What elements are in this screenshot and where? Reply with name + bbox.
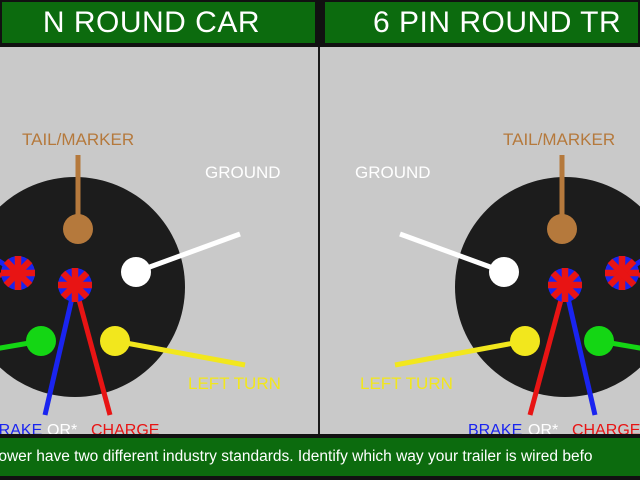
right-connector-illustration: TAIL/MARKER GROUND LEFT TURN BRAKE OR* C… — [320, 47, 640, 434]
brake-label: BRAKE — [468, 422, 522, 434]
brake-label: BRAKE — [0, 422, 42, 434]
or-label: OR* — [47, 422, 77, 434]
right-panel-title: 6 PIN ROUND TR — [373, 8, 621, 38]
ground-pin[interactable] — [489, 257, 519, 287]
brake-charge-outer-pin[interactable] — [1, 256, 35, 290]
tail-marker-pin[interactable] — [63, 214, 93, 244]
right-diagram-canvas: TAIL/MARKER GROUND LEFT TURN BRAKE OR* C… — [320, 47, 640, 434]
right-turn-pin[interactable] — [26, 326, 56, 356]
left-connector-illustration: TAIL/MARKER GROUND LEFT TURN BRAKE OR* C… — [0, 47, 318, 434]
ground-label: GROUND — [355, 163, 431, 182]
left-panel-title: N ROUND CAR — [43, 8, 260, 38]
left-panel-header: N ROUND CAR — [2, 2, 315, 43]
left-turn-label: LEFT TURN — [360, 374, 453, 393]
tail-marker-label: TAIL/MARKER — [22, 130, 134, 149]
brake-charge-center-pin[interactable] — [58, 268, 92, 302]
brake-charge-center-pin[interactable] — [548, 268, 582, 302]
brake-charge-outer-pin[interactable] — [605, 256, 639, 290]
charge-label: CHARGE — [91, 422, 159, 434]
right-diagram-panel: TAIL/MARKER GROUND LEFT TURN BRAKE OR* C… — [320, 47, 640, 434]
wiring-diagram-page: N ROUND CAR 6 PIN ROUND TR — [0, 0, 640, 480]
caption-bar: Power have two different industry standa… — [0, 438, 640, 476]
tail-marker-pin[interactable] — [547, 214, 577, 244]
charge-label: CHARGE — [572, 422, 640, 434]
tail-marker-label: TAIL/MARKER — [503, 130, 615, 149]
right-turn-pin[interactable] — [584, 326, 614, 356]
left-turn-pin[interactable] — [100, 326, 130, 356]
header-band: N ROUND CAR 6 PIN ROUND TR — [0, 0, 640, 47]
left-turn-pin[interactable] — [510, 326, 540, 356]
left-diagram-canvas: TAIL/MARKER GROUND LEFT TURN BRAKE OR* C… — [0, 47, 318, 434]
left-diagram-panel: TAIL/MARKER GROUND LEFT TURN BRAKE OR* C… — [0, 47, 320, 434]
right-panel-header: 6 PIN ROUND TR — [325, 2, 638, 43]
left-turn-label: LEFT TURN — [188, 374, 281, 393]
ground-label: GROUND — [205, 163, 281, 182]
or-label: OR* — [528, 422, 558, 434]
caption-text: Power have two different industry standa… — [0, 449, 593, 465]
ground-pin[interactable] — [121, 257, 151, 287]
